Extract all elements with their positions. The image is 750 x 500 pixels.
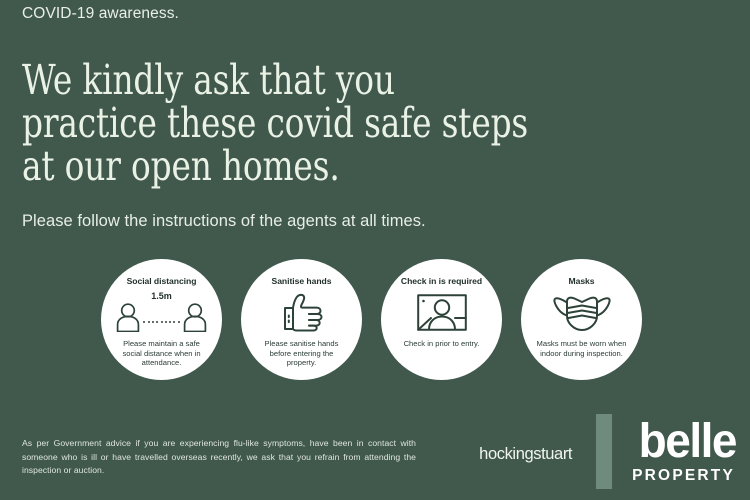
headline-line-1: We kindly ask that you [22, 59, 566, 102]
belle-wordmark: belle [639, 419, 736, 461]
belle-subtitle: PROPERTY [632, 467, 735, 485]
covid-steps-row: Social distancing 1.5m [101, 259, 642, 380]
thumbs-hand-glyph [276, 291, 328, 333]
step-title: Masks [568, 276, 594, 286]
step-title: Social distancing [127, 276, 197, 286]
id-card-glyph [417, 294, 467, 331]
person-right-icon [182, 302, 208, 332]
step-card-sanitise-hands: Sanitise hands Please sanitise hands bef… [241, 259, 362, 380]
step-title: Sanitise hands [272, 276, 332, 286]
eyebrow-label: COVID-19 awareness. [22, 5, 179, 23]
step-caption: Please maintain a safe social distance w… [116, 339, 208, 368]
distance-dots [143, 321, 179, 332]
step-card-social-distancing: Social distancing 1.5m [101, 259, 222, 380]
belle-property-logo: belle PROPERTY [632, 414, 736, 494]
step-caption: Please sanitise hands before entering th… [256, 339, 348, 368]
step-card-check-in: Check in is required Check in prior to e… [381, 259, 502, 380]
face-mask-glyph [553, 292, 611, 332]
id-card-check-in-icon [417, 290, 467, 334]
covid-awareness-poster: COVID-19 awareness. We kindly ask that y… [0, 0, 750, 500]
distance-label: 1.5m [115, 292, 207, 301]
step-card-masks: Masks Masks must be worn when indoor dur… [521, 259, 642, 380]
brand-logos: hockingstuart belle PROPERTY [479, 414, 736, 494]
step-caption: Check in prior to entry. [396, 339, 488, 349]
face-mask-icon [553, 290, 611, 334]
headline-line-2: practice these covid safe steps [22, 102, 566, 145]
headline-line-3: at our open homes. [22, 145, 566, 188]
hand-sanitise-icon [276, 290, 328, 334]
logo-divider [596, 414, 612, 489]
fine-print-disclaimer: As per Government advice if you are expe… [22, 437, 416, 478]
step-caption: Masks must be worn when indoor during in… [536, 339, 628, 358]
hockingstuart-logo: hockingstuart [479, 414, 596, 494]
headline: We kindly ask that you practice these co… [22, 59, 566, 188]
two-people-distance-icon: 1.5m [115, 290, 207, 334]
subheading: Please follow the instructions of the ag… [22, 212, 426, 231]
step-title: Check in is required [401, 276, 482, 286]
person-left-icon [115, 302, 141, 332]
